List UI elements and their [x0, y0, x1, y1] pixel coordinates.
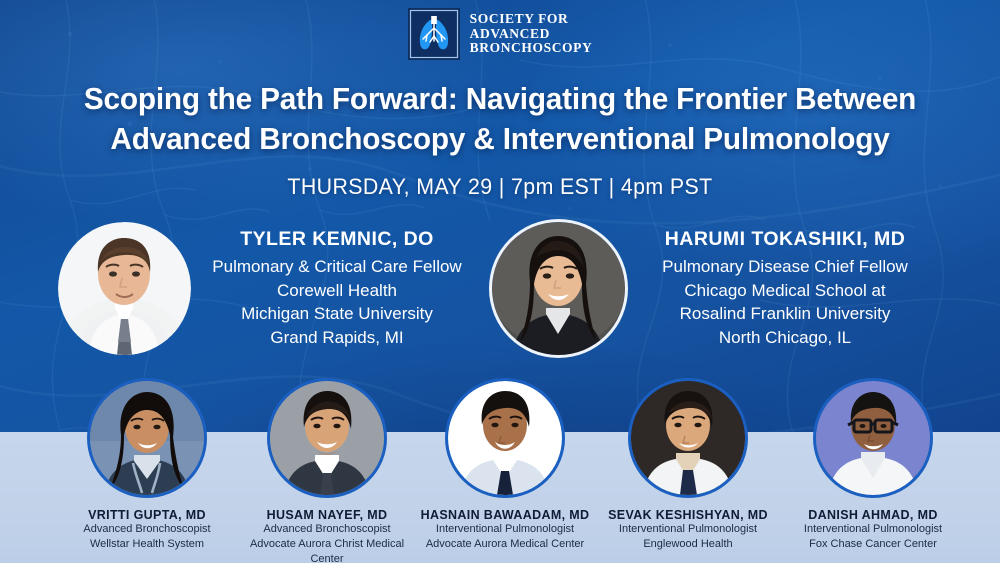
speaker-org-1: Corewell Health — [207, 279, 467, 303]
speaker-name: TYLER KEMNIC, DO — [207, 228, 467, 251]
speaker-org: Fox Chase Cancer Center — [778, 537, 968, 552]
title-line-2: Advanced Bronchoscopy & Interventional P… — [20, 119, 980, 159]
speaker-role: Pulmonary Disease Chief Fellow — [641, 255, 929, 279]
brand-name-line-2: ADVANCED — [470, 27, 593, 42]
avatar — [492, 222, 625, 355]
featured-speaker-harumi-tokashiki: HARUMI TOKASHIKI, MD Pulmonary Disease C… — [492, 222, 929, 355]
avatar — [816, 381, 930, 495]
speaker-role: Interventional Pulmonologist — [778, 522, 968, 537]
avatar — [90, 381, 204, 495]
headshot-sevak-keshishyan — [631, 381, 745, 495]
speaker-org-2: Rosalind Franklin University — [641, 302, 929, 326]
speaker-card-danish-ahmad: DANISH AHMAD, MD Interventional Pulmonol… — [778, 381, 968, 552]
speaker-role: Interventional Pulmonologist — [410, 522, 600, 537]
headshot-harumi-tokashiki — [492, 222, 625, 355]
speaker-org-1: Chicago Medical School at — [641, 279, 929, 303]
brand-name-line-1: SOCIETY FOR — [470, 12, 593, 27]
featured-speaker-tyler-kemnic: TYLER KEMNIC, DO Pulmonary & Critical Ca… — [58, 222, 467, 355]
speaker-name: HUSAM NAYEF, MD — [232, 508, 422, 522]
headshot-danish-ahmad — [816, 381, 930, 495]
speaker-name: DANISH AHMAD, MD — [778, 508, 968, 522]
headshot-tyler-kemnic — [58, 222, 191, 355]
speaker-name: SEVAK KESHISHYAN, MD — [593, 508, 783, 522]
speaker-card-vritti-gupta: VRITTI GUPTA, MD Advanced Bronchoscopist… — [52, 381, 242, 552]
speaker-org: Englewood Health — [593, 537, 783, 552]
speaker-name: VRITTI GUPTA, MD — [52, 508, 242, 522]
speaker-role: Advanced Bronchoscopist — [232, 522, 422, 537]
speaker-org: Advocate Aurora Christ Medical Center — [232, 537, 422, 563]
event-datetime: THURSDAY, MAY 29 | 7pm EST | 4pm PST — [15, 174, 985, 200]
lungs-bronchial-tree-icon — [408, 8, 460, 60]
brand-logo: SOCIETY FOR ADVANCED BRONCHOSCOPY — [0, 8, 1000, 60]
headshot-husam-nayef — [270, 381, 384, 495]
speaker-name: HARUMI TOKASHIKI, MD — [641, 228, 929, 251]
avatar — [631, 381, 745, 495]
speaker-card-hasnain-bawaadam: HASNAIN BAWAADAM, MD Interventional Pulm… — [410, 381, 600, 552]
brand-name-line-3: BRONCHOSCOPY — [470, 41, 593, 56]
speaker-location: North Chicago, IL — [641, 326, 929, 350]
speaker-org: Wellstar Health System — [52, 537, 242, 552]
avatar — [58, 222, 191, 355]
speaker-card-sevak-keshishyan: SEVAK KESHISHYAN, MD Interventional Pulm… — [593, 381, 783, 552]
page-title: Scoping the Path Forward: Navigating the… — [20, 79, 980, 159]
webinar-poster: SOCIETY FOR ADVANCED BRONCHOSCOPY Scopin… — [0, 0, 1000, 563]
headshot-vritti-gupta — [90, 381, 204, 495]
speaker-org-2: Michigan State University — [207, 302, 467, 326]
brand-name: SOCIETY FOR ADVANCED BRONCHOSCOPY — [470, 12, 593, 56]
speaker-org: Advocate Aurora Medical Center — [410, 537, 600, 552]
headshot-hasnain-bawaadam — [448, 381, 562, 495]
avatar — [270, 381, 384, 495]
speaker-location: Grand Rapids, MI — [207, 326, 467, 350]
speaker-info: HARUMI TOKASHIKI, MD Pulmonary Disease C… — [641, 222, 929, 349]
speaker-name: HASNAIN BAWAADAM, MD — [410, 508, 600, 522]
speaker-role: Pulmonary & Critical Care Fellow — [207, 255, 467, 279]
speaker-card-husam-nayef: HUSAM NAYEF, MD Advanced Bronchoscopist … — [232, 381, 422, 563]
avatar — [448, 381, 562, 495]
speaker-role: Interventional Pulmonologist — [593, 522, 783, 537]
speaker-role: Advanced Bronchoscopist — [52, 522, 242, 537]
title-line-1: Scoping the Path Forward: Navigating the… — [84, 81, 916, 116]
speaker-info: TYLER KEMNIC, DO Pulmonary & Critical Ca… — [207, 222, 467, 349]
